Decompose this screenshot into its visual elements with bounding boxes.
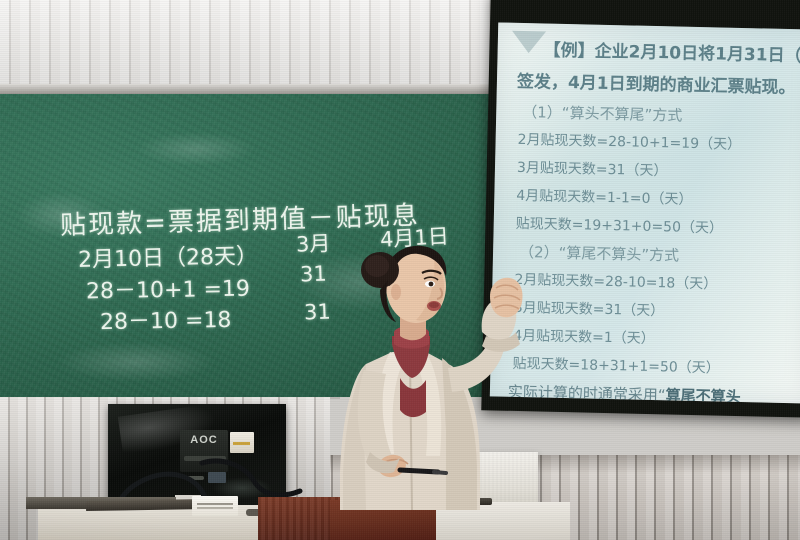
- slide-section-1-item-4: 贴现天数=19+31+0=50（天）: [516, 213, 800, 240]
- triangle-bullet-icon: [512, 31, 546, 54]
- slide-section-2-item-1: 2月贴现天数=28-10=18（天）: [514, 269, 800, 296]
- blackboard-top-rail: [0, 84, 504, 94]
- slide-section-1-item-2: 3月贴现天数=31（天）: [517, 157, 800, 184]
- slide-section-2-heading: （2）“算尾不算头”方式: [519, 241, 800, 269]
- slide-title-line-1: 【例】企业2月10日将1月31日（当年: [543, 35, 800, 67]
- instructor: [330, 240, 540, 510]
- slide-section-2-item-4: 贴现天数=18+31+1=50（天）: [512, 353, 800, 380]
- board-column-march-v1: 31: [300, 262, 328, 287]
- slide-title-line-2: 签发，4月1日到期的商业汇票贴现。: [517, 67, 800, 99]
- slide-section-1-item-1: 2月贴现天数=28-10+1=19（天）: [517, 129, 800, 156]
- board-row-3: 28－10 =18: [100, 302, 232, 336]
- monitor-sticker: [230, 432, 254, 453]
- desk-label-card: [192, 496, 238, 516]
- board-column-march-v2: 31: [304, 300, 332, 325]
- slide-section-2-item-3: 4月贴现天数=1（天）: [513, 325, 800, 352]
- classroom-scene: 贴现款=票据到期值－贴现息 2月10日（28天） 28－10+1 =19 28－…: [0, 0, 800, 540]
- slide-section-2-item-2: 3月贴现天数=31（天）: [514, 297, 800, 324]
- slide-section-1-heading: （1）“算头不算尾”方式: [522, 101, 800, 129]
- board-row-2: 28－10+1 =19: [86, 271, 250, 306]
- monitor-brand-logo: AOC: [182, 434, 226, 446]
- board-row-1: 2月10日（28天）: [78, 238, 259, 274]
- desk-edge-secondary: [86, 499, 206, 511]
- chalk-smudge: [136, 132, 256, 166]
- board-column-march: 3月: [295, 227, 330, 258]
- chalk-smudge: [56, 342, 216, 382]
- slide-section-1-item-3: 4月贴现天数=1-1=0（天）: [516, 185, 800, 212]
